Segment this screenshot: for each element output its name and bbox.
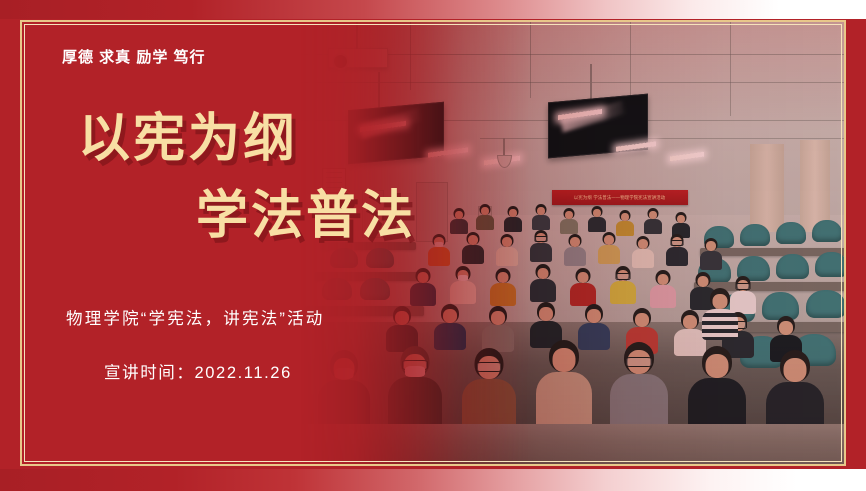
presentation-slide: 以宪为纲 学法普法——物理学院宪法宣讲活动 xyxy=(0,0,866,491)
school-motto: 厚德 求真 励学 笃行 xyxy=(62,46,206,67)
slide-subtitle: 物理学院“学宪法，讲宪法”活动 宣讲时间：2022.11.26 xyxy=(0,305,470,383)
title-line-1: 以宪为纲 xyxy=(78,112,470,167)
subtitle-date: 宣讲时间：2022.11.26 xyxy=(104,359,470,383)
slide-title: 以宪为纲 学法普法 xyxy=(0,112,470,243)
title-line-2: 学法普法 xyxy=(196,189,470,244)
bottom-gradient-band xyxy=(0,469,866,491)
top-gradient-band xyxy=(0,0,866,19)
subtitle-activity: 物理学院“学宪法，讲宪法”活动 xyxy=(66,305,470,329)
